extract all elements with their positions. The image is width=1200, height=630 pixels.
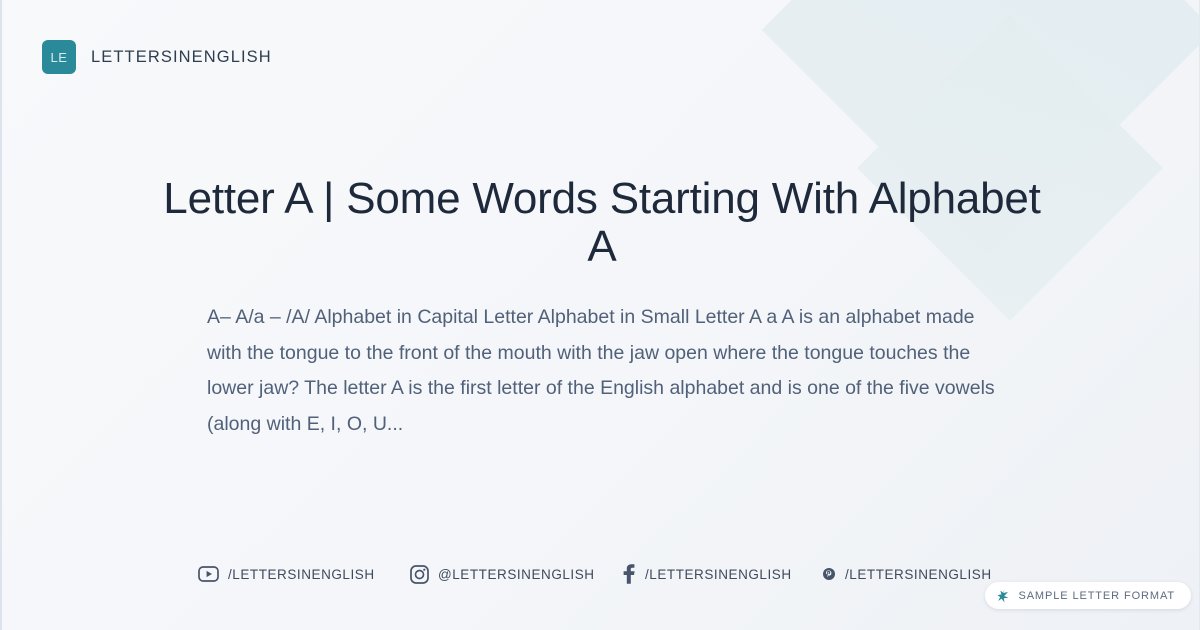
brand-name-label: LETTERSINENGLISH: [91, 48, 272, 67]
social-link-pinterest[interactable]: /LETTERSINENGLISH: [822, 567, 992, 582]
social-handle-label: /LETTERSINENGLISH: [228, 567, 375, 582]
social-link-facebook[interactable]: /LETTERSINENGLISH: [622, 563, 822, 585]
brand-badge-icon: LE: [42, 40, 76, 74]
social-links-row: /LETTERSINENGLISH @LETTERSINENGLISH /LET…: [198, 563, 992, 585]
lightning-bolt-icon: [997, 588, 1010, 603]
instagram-icon: [410, 565, 429, 584]
facebook-icon: [622, 563, 636, 585]
pinterest-icon: [822, 567, 836, 581]
page-description: A– A/a – /A/ Alphabet in Capital Letter …: [207, 300, 997, 442]
brand-logo[interactable]: LE LETTERSINENGLISH: [42, 40, 272, 74]
page-title: Letter A | Some Words Starting With Alph…: [162, 175, 1042, 270]
social-handle-label: /LETTERSINENGLISH: [845, 567, 992, 582]
social-link-instagram[interactable]: @LETTERSINENGLISH: [410, 565, 622, 584]
social-link-youtube[interactable]: /LETTERSINENGLISH: [198, 566, 410, 582]
sample-badge-label: SAMPLE LETTER FORMAT: [1018, 590, 1175, 602]
social-share-card: LE LETTERSINENGLISH Letter A | Some Word…: [0, 0, 1200, 630]
main-content: Letter A | Some Words Starting With Alph…: [2, 175, 1200, 442]
youtube-icon: [198, 566, 219, 582]
social-handle-label: /LETTERSINENGLISH: [645, 567, 792, 582]
social-handle-label: @LETTERSINENGLISH: [438, 567, 595, 582]
sample-letter-format-badge[interactable]: SAMPLE LETTER FORMAT: [985, 582, 1191, 609]
